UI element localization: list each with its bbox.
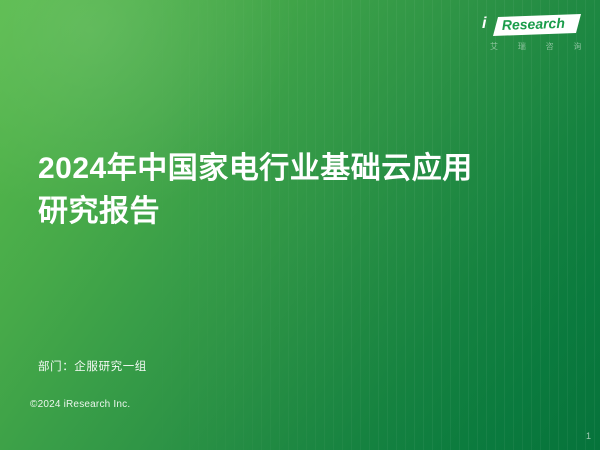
logo-chinese-char-4: 询 [573, 41, 582, 52]
logo-chinese-name: 艾 瑞 咨 询 [490, 41, 582, 52]
logo-chinese-char-2: 瑞 [518, 41, 527, 52]
slide-title-line-1: 2024年中国家电行业基础云应用 [38, 148, 568, 191]
department-label: 部门：企服研究一组 [38, 358, 147, 374]
page-number: 1 [586, 431, 591, 441]
title-slide: Research i 艾 瑞 咨 询 2024年中国家电行业基础云应用 研究报告… [0, 0, 600, 450]
slide-title-line-2: 研究报告 [38, 191, 568, 234]
copyright-notice: ©2024 iResearch Inc. [30, 399, 130, 410]
slide-title: 2024年中国家电行业基础云应用 研究报告 [38, 148, 568, 233]
logo-banner-shape: Research [492, 14, 582, 36]
logo-chinese-char-3: 咨 [546, 41, 555, 52]
logo-initial-i: i [482, 16, 486, 32]
logo-chinese-char-1: 艾 [490, 41, 499, 52]
svg-text:Research: Research [502, 15, 566, 33]
iresearch-logo: Research i 艾 瑞 咨 询 [478, 14, 582, 60]
